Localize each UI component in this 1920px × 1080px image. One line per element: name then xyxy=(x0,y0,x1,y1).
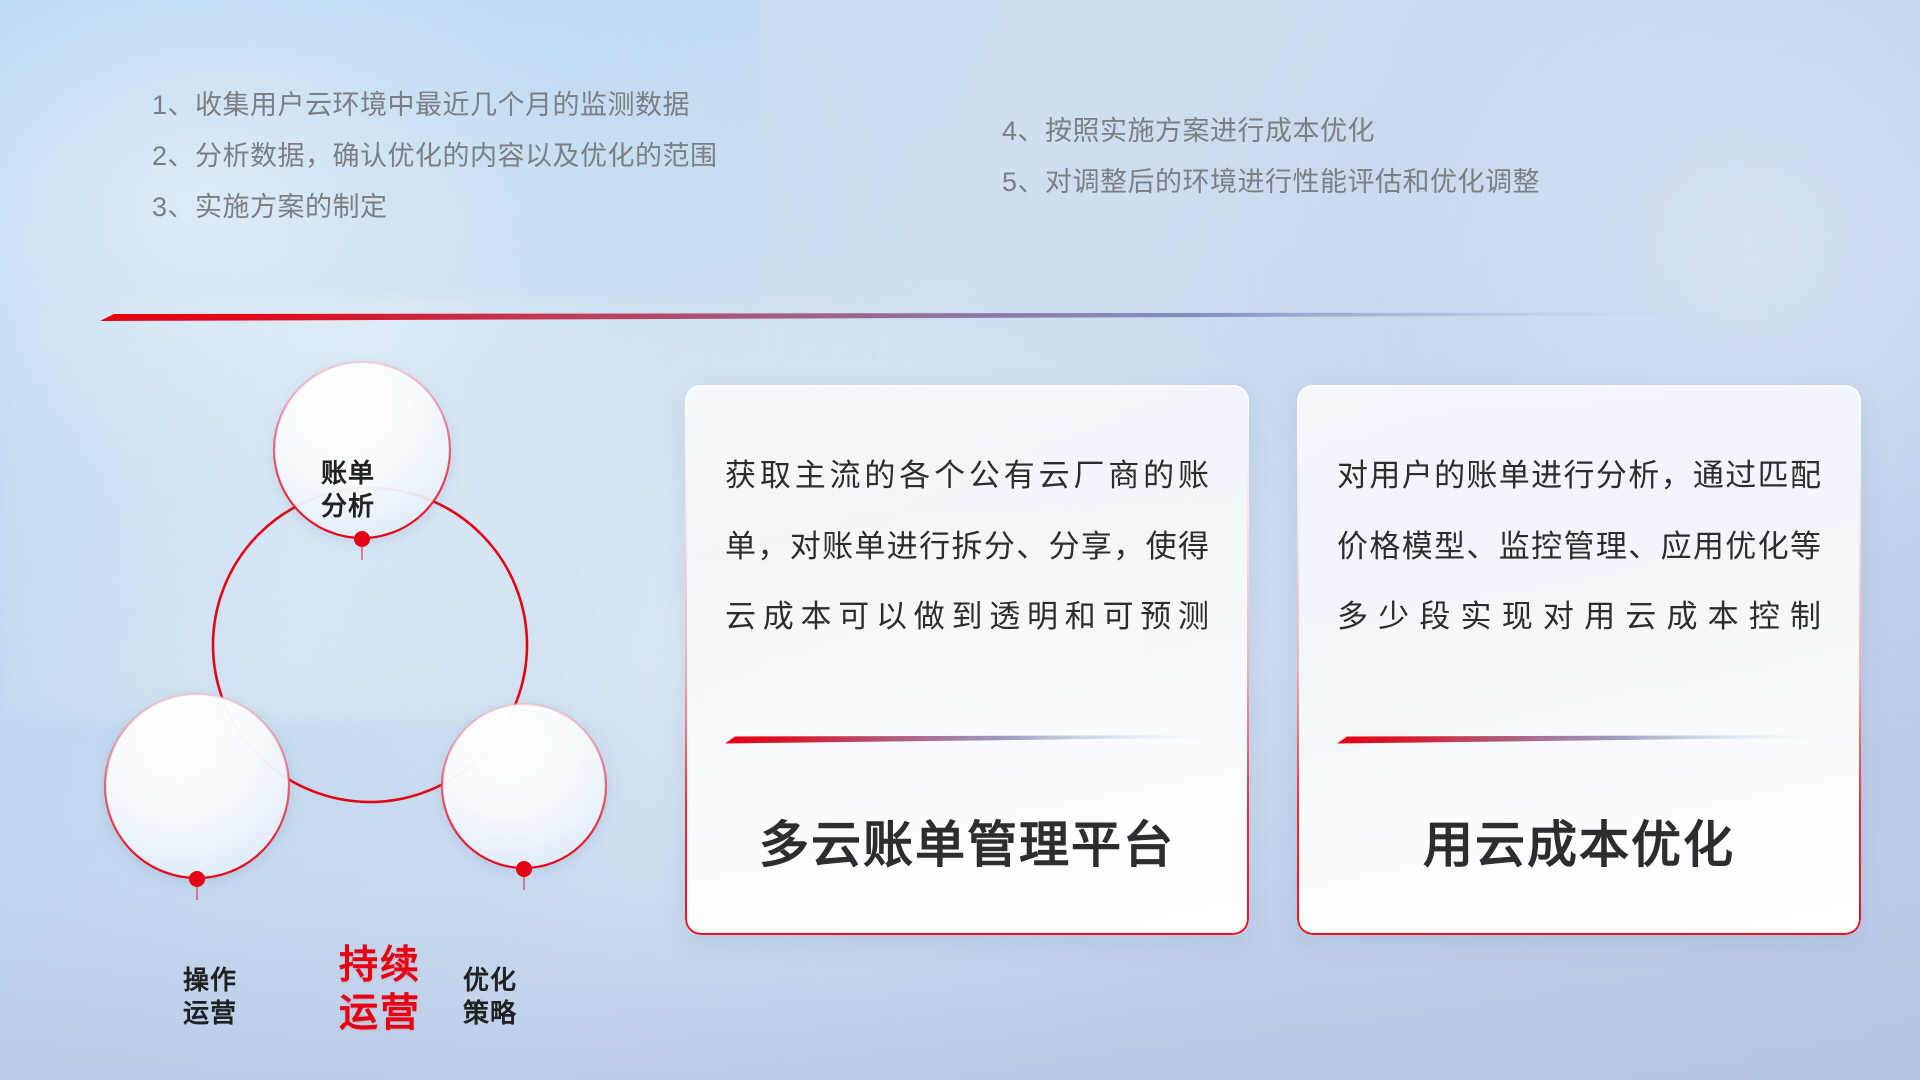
card-rule-shape xyxy=(1337,734,1821,746)
venn-node-dot xyxy=(516,861,532,877)
steps-list-right: 4、按照实施方案进行成本优化 5、对调整后的环境进行性能评估和优化调整 xyxy=(1002,118,1540,220)
card-description: 获取主流的各个公有云厂商的账单，对账单进行拆分、分享，使得云成本可以做到透明和可… xyxy=(725,441,1209,653)
venn-node-operations[interactable] xyxy=(105,694,289,900)
header-divider-shape xyxy=(100,311,1718,323)
venn-label-billing-analysis: 账单 分析 xyxy=(268,457,428,524)
card-title: 用云成本优化 xyxy=(1337,805,1821,877)
step-item: 2、分析数据，确认优化的内容以及优化的范围 xyxy=(152,143,718,170)
step-item: 5、对调整后的环境进行性能评估和优化调整 xyxy=(1002,169,1540,196)
card-cloud-cost-optimization[interactable]: 对用户的账单进行分析，通过匹配价格模型、监控管理、应用优化等多少段实现对用云成本… xyxy=(1297,385,1861,935)
venn-label-operations: 操作 运营 xyxy=(130,964,290,1031)
venn-node-optimization-strategy[interactable] xyxy=(442,704,606,890)
venn-node-dot xyxy=(189,871,205,887)
card-rule xyxy=(1337,733,1821,745)
venn-label-center: 持续 运营 xyxy=(270,942,490,1037)
steps-list-left: 1、收集用户云环境中最近几个月的监测数据 2、分析数据，确认优化的内容以及优化的… xyxy=(152,92,718,245)
venn-diagram-graphic xyxy=(100,352,660,942)
card-body: 对用户的账单进行分析，通过匹配价格模型、监控管理、应用优化等多少段实现对用云成本… xyxy=(1337,441,1821,653)
step-item: 1、收集用户云环境中最近几个月的监测数据 xyxy=(152,92,718,119)
card-rule-shape xyxy=(725,734,1209,746)
step-item: 3、实施方案的制定 xyxy=(152,194,718,221)
step-item: 4、按照实施方案进行成本优化 xyxy=(1002,118,1540,145)
card-body: 获取主流的各个公有云厂商的账单，对账单进行拆分、分享，使得云成本可以做到透明和可… xyxy=(725,441,1209,653)
venn-diagram: 账单 分析 操作 运营 优化 策略 持续 运营 xyxy=(100,352,660,942)
card-rule xyxy=(725,733,1209,745)
card-description: 对用户的账单进行分析，通过匹配价格模型、监控管理、应用优化等多少段实现对用云成本… xyxy=(1337,441,1821,653)
header-divider xyxy=(100,310,1718,322)
card-title: 多云账单管理平台 xyxy=(725,805,1209,877)
card-multi-cloud-billing-platform[interactable]: 获取主流的各个公有云厂商的账单，对账单进行拆分、分享，使得云成本可以做到透明和可… xyxy=(685,385,1249,935)
venn-node-dot xyxy=(354,531,370,547)
